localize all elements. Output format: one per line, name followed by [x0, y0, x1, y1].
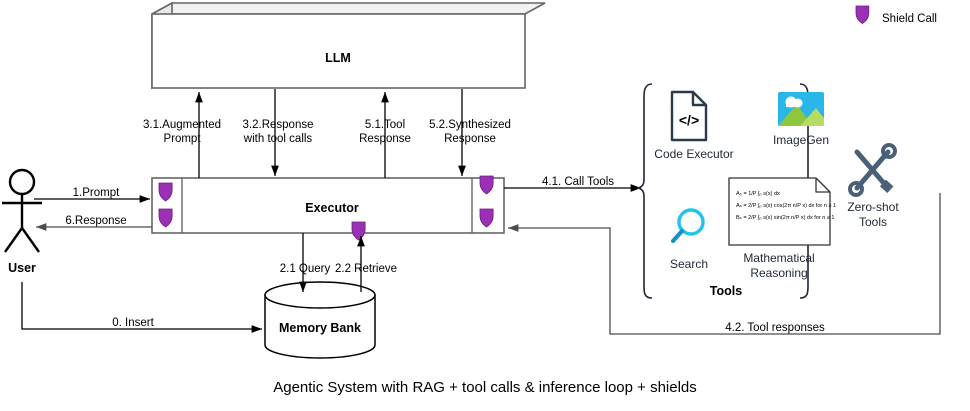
- flow-label-synthesized-response-line2: Response: [444, 133, 496, 145]
- node-user-label: User: [8, 261, 36, 275]
- flow-label-prompt: 1.Prompt: [73, 187, 120, 199]
- flow-label-response-tool-calls-line2: with tool calls: [243, 133, 313, 145]
- tool-mathematical-reasoning-label-line2: Reasoning: [750, 266, 807, 280]
- tool-imagegen[interactable]: ImageGen: [773, 92, 830, 147]
- tool-zero-shot-tools[interactable]: Zero-shot Tools: [847, 145, 899, 229]
- legend-shield-icon: [856, 6, 869, 24]
- tool-zero-shot-tools-label-line1: Zero-shot: [847, 200, 899, 214]
- node-llm-label: LLM: [325, 51, 351, 65]
- tool-mathematical-reasoning[interactable]: A₀ = 1/P ∫ₚ s(x) dx Aₙ = 2/P ∫ₚ s(x) cos…: [729, 178, 836, 280]
- flow-label-retrieve: 2.2 Retrieve: [335, 263, 397, 275]
- svg-text:A₀ = 1/P ∫ₚ s(x) dx: A₀ = 1/P ∫ₚ s(x) dx: [736, 191, 780, 197]
- flow-label-augmented-prompt-line2: Prompt: [163, 133, 201, 145]
- tool-mathematical-reasoning-label-line1: Mathematical: [743, 251, 814, 265]
- code-glyph: </>: [679, 112, 699, 128]
- flow-label-tool-response-line1: 5.1.Tool: [365, 119, 405, 131]
- tool-zero-shot-tools-label-line2: Tools: [859, 215, 887, 229]
- node-user[interactable]: [2, 170, 42, 252]
- tool-code-executor-label: Code Executor: [654, 147, 733, 161]
- node-llm[interactable]: LLM: [152, 3, 545, 88]
- flow-label-synthesized-response-line1: 5.2.Synthesized: [429, 119, 511, 131]
- flow-label-augmented-prompt-line1: 3.1.Augmented: [143, 119, 221, 131]
- tool-imagegen-label: ImageGen: [773, 133, 829, 147]
- legend-shield-call: Shield Call: [856, 6, 937, 25]
- flow-label-call-tools: 4.1. Call Tools: [542, 176, 614, 188]
- flow-label-response-tool-calls-line1: 3.2.Response: [243, 119, 314, 131]
- legend-label: Shield Call: [882, 13, 937, 25]
- flow-label-tool-response-line2: Response: [359, 133, 411, 145]
- flow-label-query: 2.1 Query: [280, 263, 331, 275]
- flow-label-tool-responses: 4.2. Tool responses: [725, 322, 825, 334]
- shield-executor-bottom-center: [352, 222, 365, 240]
- svg-text:Bₙ = 2/P ∫ₚ s(x) sin(2π n/P x): Bₙ = 2/P ∫ₚ s(x) sin(2π n/P x) dx for n …: [736, 215, 834, 221]
- node-memory-bank[interactable]: Memory Bank: [265, 282, 375, 358]
- diagram-canvas: LLM Executor User Memory Bank 3.1.Augmen…: [0, 0, 970, 411]
- node-executor-label: Executor: [305, 201, 359, 215]
- tool-code-executor[interactable]: </> Code Executor: [654, 92, 733, 161]
- node-memory-bank-label: Memory Bank: [279, 321, 361, 335]
- node-executor[interactable]: Executor: [152, 178, 504, 233]
- tool-search[interactable]: Search: [670, 210, 708, 271]
- tool-search-label: Search: [670, 257, 708, 271]
- tools-group-label: Tools: [710, 284, 742, 298]
- svg-text:Aₙ = 2/P ∫ₚ s(x) cos(2π n/P x): Aₙ = 2/P ∫ₚ s(x) cos(2π n/P x) dx for n …: [736, 203, 836, 209]
- flow-label-insert: 0. Insert: [112, 317, 154, 329]
- diagram-caption: Agentic System with RAG + tool calls & i…: [273, 379, 697, 396]
- flow-label-response: 6.Response: [65, 215, 126, 227]
